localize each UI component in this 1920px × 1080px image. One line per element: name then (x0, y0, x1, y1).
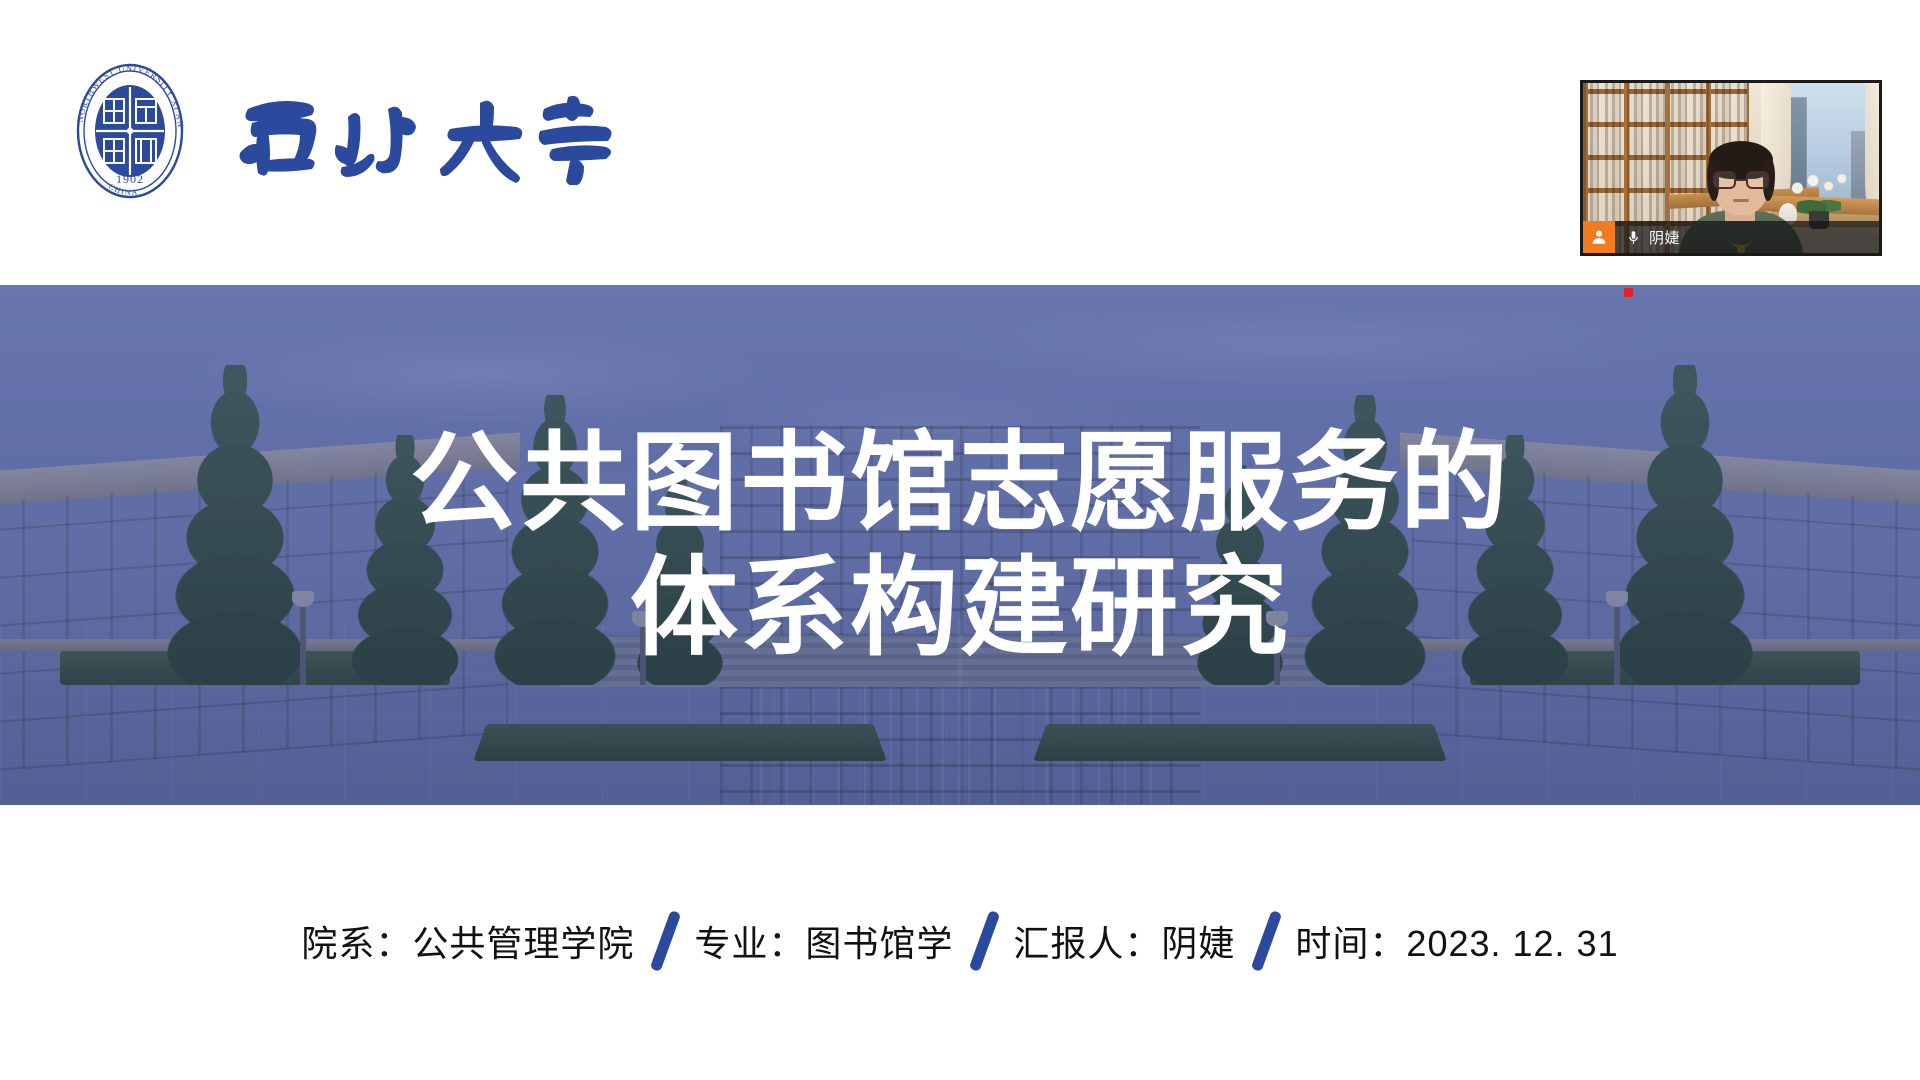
slide-footer: 院系：公共管理学院 专业：图书馆学 汇报人：阴婕 时间：2023. 12. 31 (0, 805, 1920, 1080)
footer-major: 专业：图书馆学 (694, 915, 953, 967)
footer-presenter: 汇报人：阴婕 (1013, 915, 1235, 967)
participant-name-bar: 阴婕 (1583, 221, 1882, 253)
slide-title: 公共图书馆志愿服务的 体系构建研究 (0, 285, 1920, 805)
title-line-2: 体系构建研究 (630, 545, 1290, 670)
title-line-1: 公共图书馆志愿服务的 (410, 420, 1510, 545)
video-participant-panel[interactable]: 阴婕 (1580, 80, 1882, 256)
footer-meta-row: 院系：公共管理学院 专业：图书馆学 汇报人：阴婕 时间：2023. 12. 31 (301, 910, 1618, 972)
university-seal-icon: NORTHWEST UNIVERSITY XI'AN CHINA 1902 (68, 55, 192, 205)
presentation-slide: NORTHWEST UNIVERSITY XI'AN CHINA 1902 (0, 0, 1920, 1080)
campus-banner-image: 公共图书馆志愿服务的 体系构建研究 (0, 285, 1920, 805)
slash-separator-icon (634, 910, 694, 972)
footer-department: 院系：公共管理学院 (301, 915, 634, 967)
slash-separator-icon (953, 910, 1013, 972)
slide-header: NORTHWEST UNIVERSITY XI'AN CHINA 1902 (0, 0, 1920, 285)
laser-pointer-dot (1624, 288, 1633, 297)
participant-name-label: 阴婕 (1649, 227, 1680, 248)
footer-date: 时间：2023. 12. 31 (1295, 915, 1618, 967)
university-logo-lockup: NORTHWEST UNIVERSITY XI'AN CHINA 1902 (68, 55, 622, 205)
person-icon (1583, 221, 1615, 253)
university-wordmark (222, 75, 622, 185)
microphone-icon (1626, 228, 1641, 247)
slash-separator-icon (1235, 910, 1295, 972)
